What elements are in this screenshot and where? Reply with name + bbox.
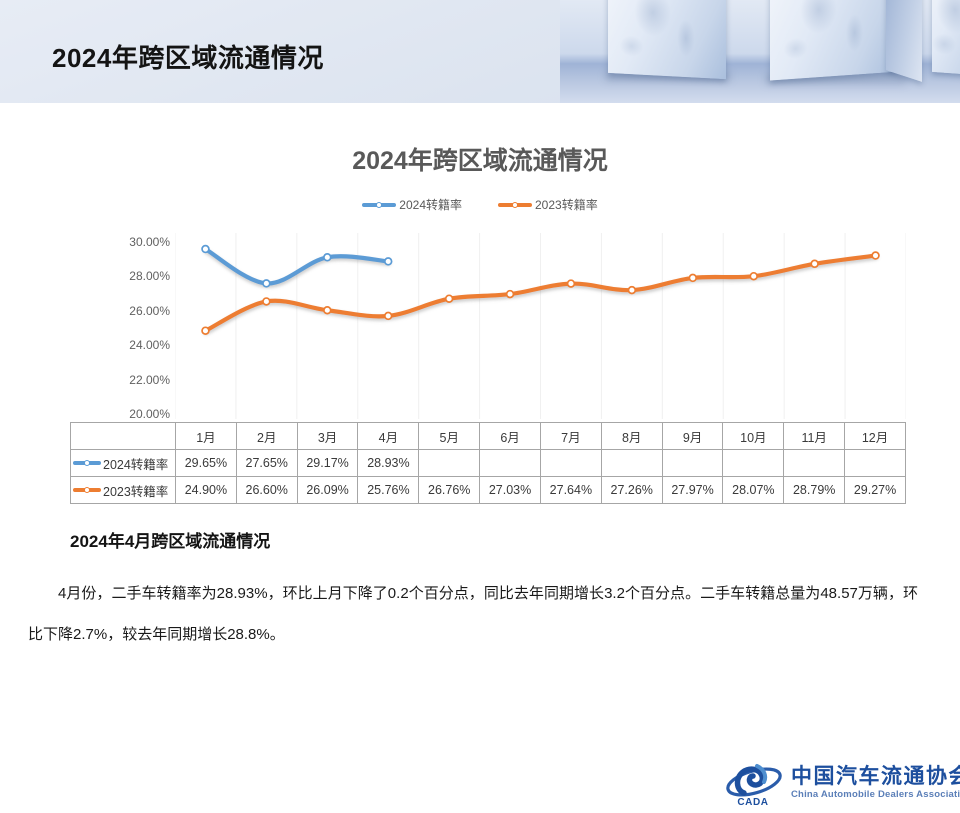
table-column-header: 6月 — [480, 423, 541, 450]
table-column-header: 12月 — [845, 423, 906, 450]
legend-item-2024[interactable]: 2024转籍率 — [362, 196, 462, 213]
chart-series-canvas — [175, 233, 906, 419]
legend-swatch-2023-icon — [498, 203, 532, 207]
decorative-cube-side — [886, 0, 922, 82]
table-cell: 27.03% — [480, 477, 541, 504]
table-header-row: 1月2月3月4月5月6月7月8月9月10月11月12月 — [71, 423, 906, 450]
table-column-header: 2月 — [236, 423, 297, 450]
organization-logo: CADA 中国汽车流通协会 China Automobile Dealers A… — [724, 758, 939, 810]
data-point-marker[interactable] — [263, 280, 270, 287]
table-cell: 29.27% — [845, 477, 906, 504]
data-point-marker[interactable] — [507, 291, 514, 298]
table-series-label-cell: 2023转籍率 — [71, 477, 176, 504]
table-cell: 27.65% — [236, 450, 297, 477]
data-point-marker[interactable] — [628, 287, 635, 294]
data-point-marker[interactable] — [872, 252, 879, 259]
table-column-header: 7月 — [540, 423, 601, 450]
legend-label-2023: 2023转籍率 — [535, 196, 598, 213]
table-column-header: 10月 — [723, 423, 784, 450]
svg-text:CADA: CADA — [737, 797, 768, 808]
table-column-header: 4月 — [358, 423, 419, 450]
y-axis-tick-label: 28.00% — [104, 269, 170, 283]
data-point-marker[interactable] — [263, 298, 270, 305]
chart-data-table: 1月2月3月4月5月6月7月8月9月10月11月12月 2024转籍率29.65… — [70, 422, 906, 504]
narrative-paragraph: 4月份，二手车转籍率为28.93%，环比上月下降了0.2个百分点，同比去年同期增… — [28, 573, 918, 655]
table-series-name: 2023转籍率 — [103, 481, 168, 500]
table-corner-blank — [71, 423, 176, 450]
legend-item-2023[interactable]: 2023转籍率 — [498, 196, 598, 213]
table-cell — [784, 450, 845, 477]
table-cell: 27.64% — [540, 477, 601, 504]
table-series-name: 2024转籍率 — [103, 454, 168, 473]
table-cell: 26.60% — [236, 477, 297, 504]
page-title: 2024年跨区域流通情况 — [52, 38, 324, 75]
data-point-marker[interactable] — [750, 273, 757, 280]
table-cell: 28.93% — [358, 450, 419, 477]
table-column-header: 3月 — [297, 423, 358, 450]
table-series-label-cell: 2024转籍率 — [71, 450, 176, 477]
table-cell: 26.09% — [297, 477, 358, 504]
table-cell — [601, 450, 662, 477]
data-point-marker[interactable] — [385, 258, 392, 265]
logo-name-en: China Automobile Dealers Association — [791, 788, 960, 802]
y-axis-tick-label: 26.00% — [104, 304, 170, 318]
table-column-header: 5月 — [419, 423, 480, 450]
legend-swatch-2024-icon — [362, 203, 396, 207]
chart-title: 2024年跨区域流通情况 — [0, 141, 960, 177]
table-column-header: 1月 — [176, 423, 237, 450]
table-row: 2023转籍率24.90%26.60%26.09%25.76%26.76%27.… — [71, 477, 906, 504]
decorative-cube-icon — [932, 0, 960, 76]
table-cell: 27.97% — [662, 477, 723, 504]
y-axis-tick-label: 22.00% — [104, 373, 170, 387]
data-point-marker[interactable] — [568, 280, 575, 287]
table-cell: 24.90% — [176, 477, 237, 504]
table-cell — [723, 450, 784, 477]
logo-name-cn: 中国汽车流通协会 — [791, 766, 960, 789]
chart-plot-area: 30.00%28.00%26.00%24.00%22.00%20.00% — [0, 233, 960, 428]
data-point-marker[interactable] — [689, 275, 696, 282]
decorative-cube-icon — [770, 0, 898, 80]
table-cell: 26.76% — [419, 477, 480, 504]
chart-legend: 2024转籍率 2023转籍率 — [0, 196, 960, 213]
series-swatch-icon — [73, 488, 101, 492]
table-cell — [845, 450, 906, 477]
slide-header-band: 2024年跨区域流通情况 — [0, 0, 960, 103]
slide-body: 2024年跨区域流通情况 2024转籍率 2023转籍率 30.00%28.00… — [0, 103, 960, 720]
table-cell — [480, 450, 541, 477]
data-point-marker[interactable] — [202, 246, 209, 253]
series-swatch-icon — [73, 461, 101, 465]
y-axis-tick-label: 30.00% — [104, 235, 170, 249]
table-cell: 29.17% — [297, 450, 358, 477]
data-point-marker[interactable] — [202, 327, 209, 334]
data-point-marker[interactable] — [324, 307, 331, 314]
table-cell: 25.76% — [358, 477, 419, 504]
data-point-marker[interactable] — [446, 295, 453, 302]
table-cell: 28.07% — [723, 477, 784, 504]
section-subheading: 2024年4月跨区域流通情况 — [70, 527, 270, 552]
table-cell — [662, 450, 723, 477]
data-point-marker[interactable] — [324, 254, 331, 261]
data-point-marker[interactable] — [385, 313, 392, 320]
table-column-header: 9月 — [662, 423, 723, 450]
table-column-header: 11月 — [784, 423, 845, 450]
decorative-cube-icon — [608, 0, 726, 79]
data-point-marker[interactable] — [811, 260, 818, 267]
legend-label-2024: 2024转籍率 — [399, 196, 462, 213]
cada-emblem-icon: CADA — [724, 760, 784, 808]
table-cell — [540, 450, 601, 477]
table-cell — [419, 450, 480, 477]
table-cell: 27.26% — [601, 477, 662, 504]
y-axis-tick-label: 20.00% — [104, 407, 170, 421]
y-axis-tick-label: 24.00% — [104, 338, 170, 352]
table-cell: 29.65% — [176, 450, 237, 477]
table-cell: 28.79% — [784, 477, 845, 504]
table-row: 2024转籍率29.65%27.65%29.17%28.93% — [71, 450, 906, 477]
table-column-header: 8月 — [601, 423, 662, 450]
